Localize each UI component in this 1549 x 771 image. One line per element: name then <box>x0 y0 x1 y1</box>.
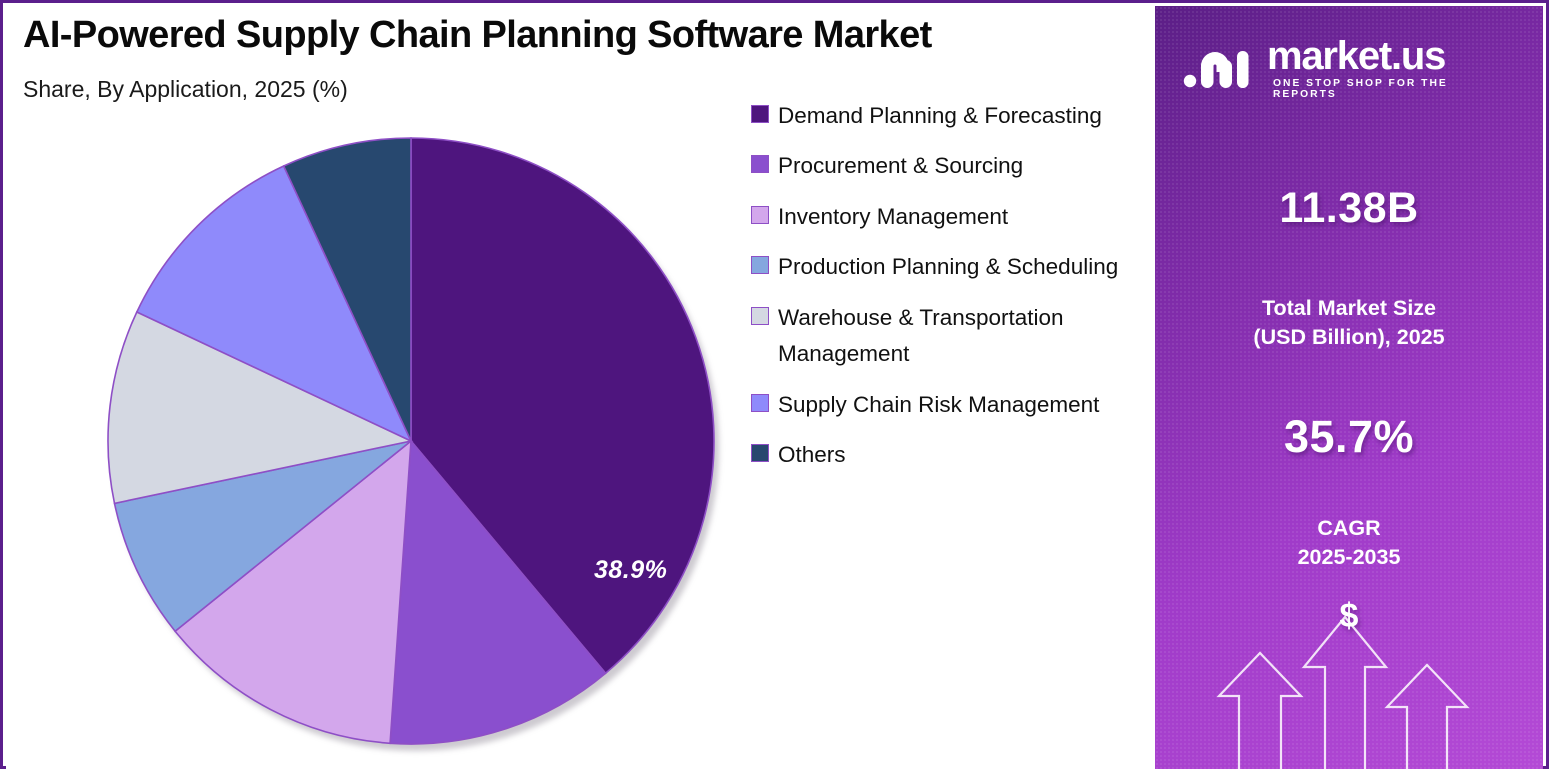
legend-item[interactable]: Warehouse & Transportation Management <box>751 300 1151 373</box>
pie-chart-svg <box>94 136 734 771</box>
legend-item-label: Inventory Management <box>778 199 1008 235</box>
page-title: AI-Powered Supply Chain Planning Softwar… <box>23 14 932 57</box>
cagr-caption: CAGR 2025-2035 <box>1155 514 1543 571</box>
legend-item[interactable]: Supply Chain Risk Management <box>751 387 1151 423</box>
legend-swatch-icon <box>751 206 769 224</box>
cagr-value: 35.7% <box>1155 411 1543 463</box>
legend-item[interactable]: Production Planning & Scheduling <box>751 249 1151 285</box>
chart-legend: Demand Planning & ForecastingProcurement… <box>751 98 1151 488</box>
legend-item-label: Supply Chain Risk Management <box>778 387 1099 423</box>
legend-item-label: Production Planning & Scheduling <box>778 249 1118 285</box>
chart-panel: AI-Powered Supply Chain Planning Softwar… <box>6 6 1161 769</box>
cagr-caption-line2: 2025-2035 <box>1155 543 1543 572</box>
legend-item[interactable]: Others <box>751 437 1151 473</box>
growth-arrows-icon <box>1155 579 1543 769</box>
cagr-caption-line1: CAGR <box>1155 514 1543 543</box>
legend-item-label: Demand Planning & Forecasting <box>778 98 1102 134</box>
legend-swatch-icon <box>751 155 769 173</box>
logo-wordmark: market.us <box>1267 34 1445 79</box>
legend-item-label: Procurement & Sourcing <box>778 148 1023 184</box>
market-size-caption-line2: (USD Billion), 2025 <box>1155 323 1543 352</box>
market-size-value: 11.38B <box>1155 184 1543 233</box>
legend-swatch-icon <box>751 105 769 123</box>
legend-swatch-icon <box>751 394 769 412</box>
market-size-caption: Total Market Size (USD Billion), 2025 <box>1155 294 1543 351</box>
legend-item[interactable]: Demand Planning & Forecasting <box>751 98 1151 134</box>
infographic-frame: AI-Powered Supply Chain Planning Softwar… <box>0 0 1549 769</box>
market-size-caption-line1: Total Market Size <box>1155 294 1543 323</box>
market-us-logo: market.us ONE STOP SHOP FOR THE REPORTS <box>1183 34 1513 96</box>
pie-slice-label: 38.9% <box>594 556 667 585</box>
logo-mark-icon <box>1183 38 1257 90</box>
legend-swatch-icon <box>751 307 769 325</box>
legend-item[interactable]: Procurement & Sourcing <box>751 148 1151 184</box>
legend-swatch-icon <box>751 444 769 462</box>
stats-sidebar: market.us ONE STOP SHOP FOR THE REPORTS … <box>1155 6 1543 769</box>
legend-swatch-icon <box>751 256 769 274</box>
legend-item-label: Warehouse & Transportation Management <box>778 300 1148 373</box>
pie-chart: 38.9% <box>94 136 734 771</box>
legend-item[interactable]: Inventory Management <box>751 199 1151 235</box>
page-subtitle: Share, By Application, 2025 (%) <box>23 76 348 103</box>
legend-item-label: Others <box>778 437 846 473</box>
logo-tagline: ONE STOP SHOP FOR THE REPORTS <box>1273 78 1513 100</box>
